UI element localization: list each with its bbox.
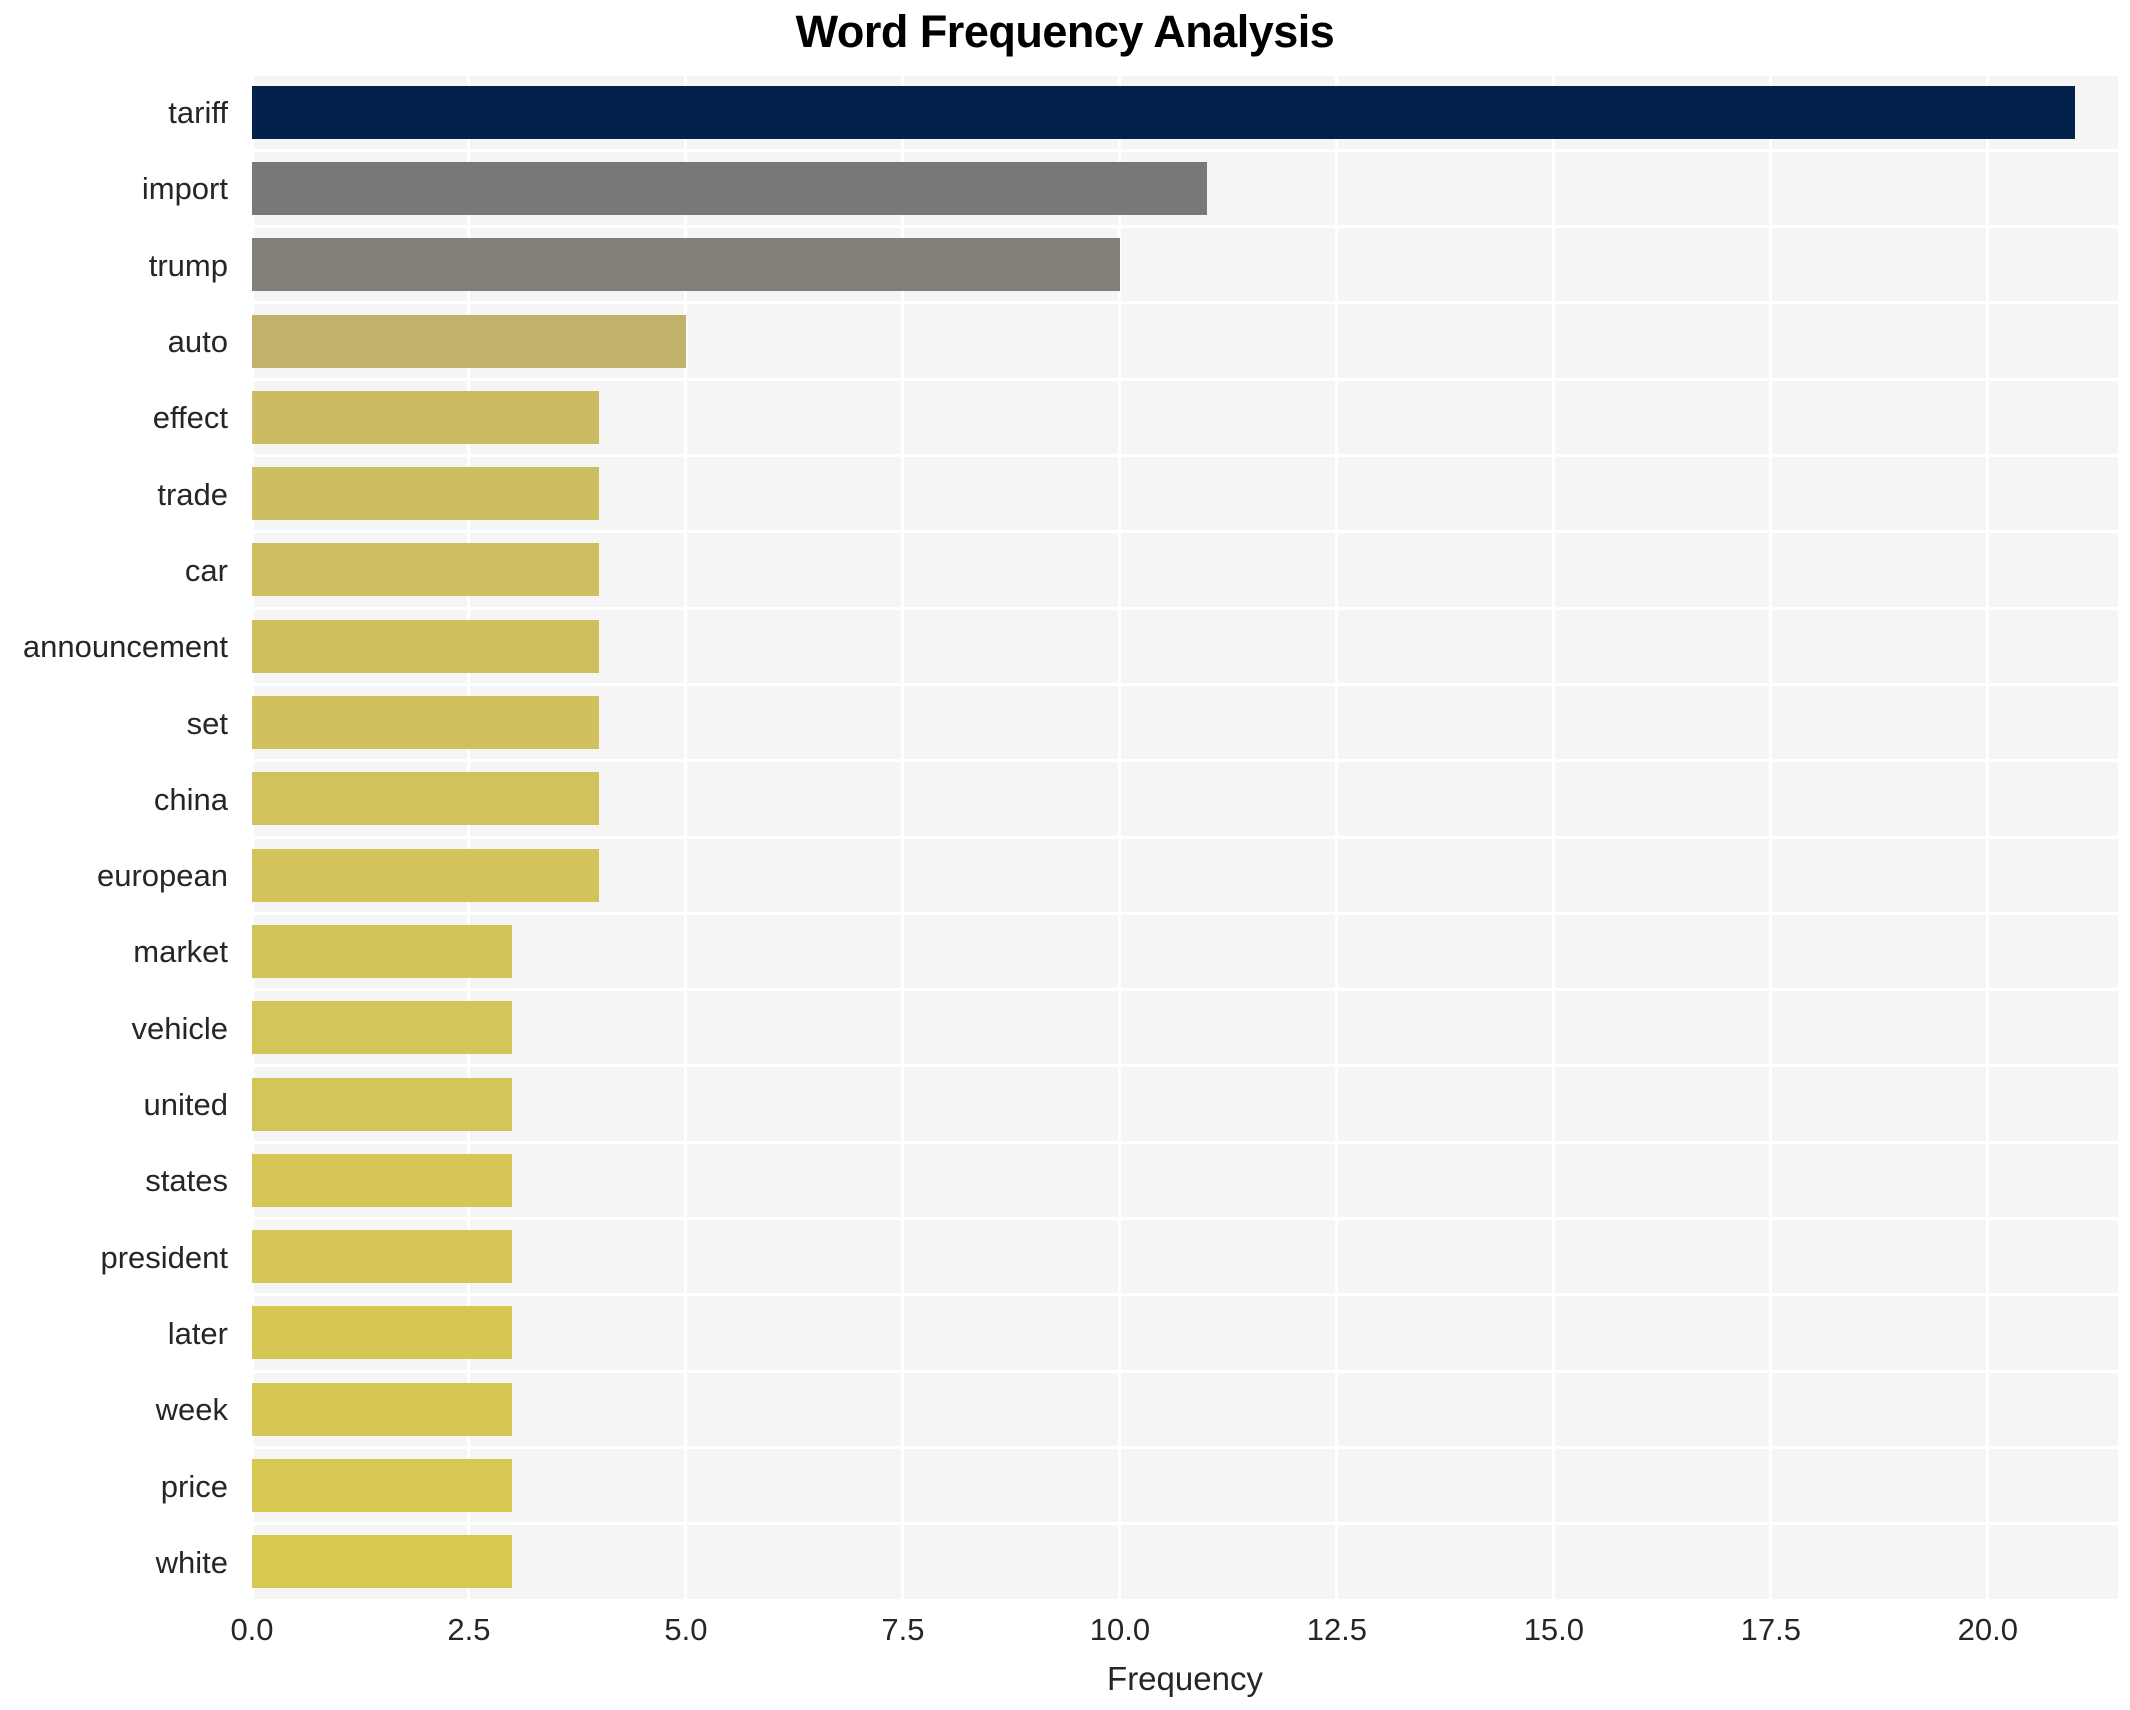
bar	[252, 925, 512, 978]
y-axis-tick-label: states	[0, 1165, 240, 1196]
x-axis-title: Frequency	[252, 1660, 2118, 1698]
x-axis-tick-label: 7.5	[881, 1612, 924, 1648]
bar	[252, 1535, 512, 1588]
x-axis-tick-label: 10.0	[1090, 1612, 1150, 1648]
bar	[252, 1078, 512, 1131]
bar	[252, 238, 1120, 291]
y-axis-tick-label: import	[0, 173, 240, 204]
bar	[252, 1001, 512, 1054]
bar	[252, 391, 599, 444]
y-axis-tick-label: united	[0, 1089, 240, 1120]
bar	[252, 1230, 512, 1283]
bar	[252, 696, 599, 749]
y-axis-tick-label: car	[0, 555, 240, 586]
bar	[252, 772, 599, 825]
bar	[252, 620, 599, 673]
y-axis-tick-label: vehicle	[0, 1013, 240, 1044]
bar	[252, 849, 599, 902]
y-axis-tick-label: week	[0, 1394, 240, 1425]
x-axis-tick-label: 2.5	[447, 1612, 490, 1648]
y-axis-tick-label: tariff	[0, 97, 240, 128]
bar	[252, 1383, 512, 1436]
y-axis-tick-label: price	[0, 1471, 240, 1502]
bar	[252, 1459, 512, 1512]
bar	[252, 86, 2075, 139]
bar	[252, 543, 599, 596]
bar	[252, 1154, 512, 1207]
y-axis-tick-label: trump	[0, 250, 240, 281]
bars-layer	[252, 74, 2118, 1600]
y-axis-tick-label: set	[0, 708, 240, 739]
y-axis-tick-label: announcement	[0, 631, 240, 662]
bar	[252, 467, 599, 520]
plot-area	[252, 74, 2118, 1600]
chart-title: Word Frequency Analysis	[0, 6, 2130, 58]
y-axis-tick-label: market	[0, 936, 240, 967]
bar	[252, 1306, 512, 1359]
x-axis-tick-label: 5.0	[664, 1612, 707, 1648]
y-axis-labels: tariffimporttrumpautoeffecttradecarannou…	[0, 74, 240, 1600]
y-axis-tick-label: effect	[0, 402, 240, 433]
x-axis-tick-label: 17.5	[1741, 1612, 1801, 1648]
bar	[252, 162, 1207, 215]
y-axis-tick-label: auto	[0, 326, 240, 357]
x-axis-tick-label: 15.0	[1524, 1612, 1584, 1648]
chart-figure: Word Frequency Analysis tariffimporttrum…	[0, 0, 2130, 1710]
x-axis-tick-label: 20.0	[1958, 1612, 2018, 1648]
x-axis-tick-label: 0.0	[230, 1612, 273, 1648]
y-axis-tick-label: white	[0, 1547, 240, 1578]
y-axis-tick-label: european	[0, 860, 240, 891]
x-axis-tick-label: 12.5	[1307, 1612, 1367, 1648]
y-axis-tick-label: trade	[0, 479, 240, 510]
x-axis-tick-labels: 0.02.55.07.510.012.515.017.520.0	[252, 1612, 2118, 1662]
y-axis-tick-label: president	[0, 1242, 240, 1273]
bar	[252, 315, 686, 368]
y-axis-tick-label: china	[0, 784, 240, 815]
y-axis-tick-label: later	[0, 1318, 240, 1349]
